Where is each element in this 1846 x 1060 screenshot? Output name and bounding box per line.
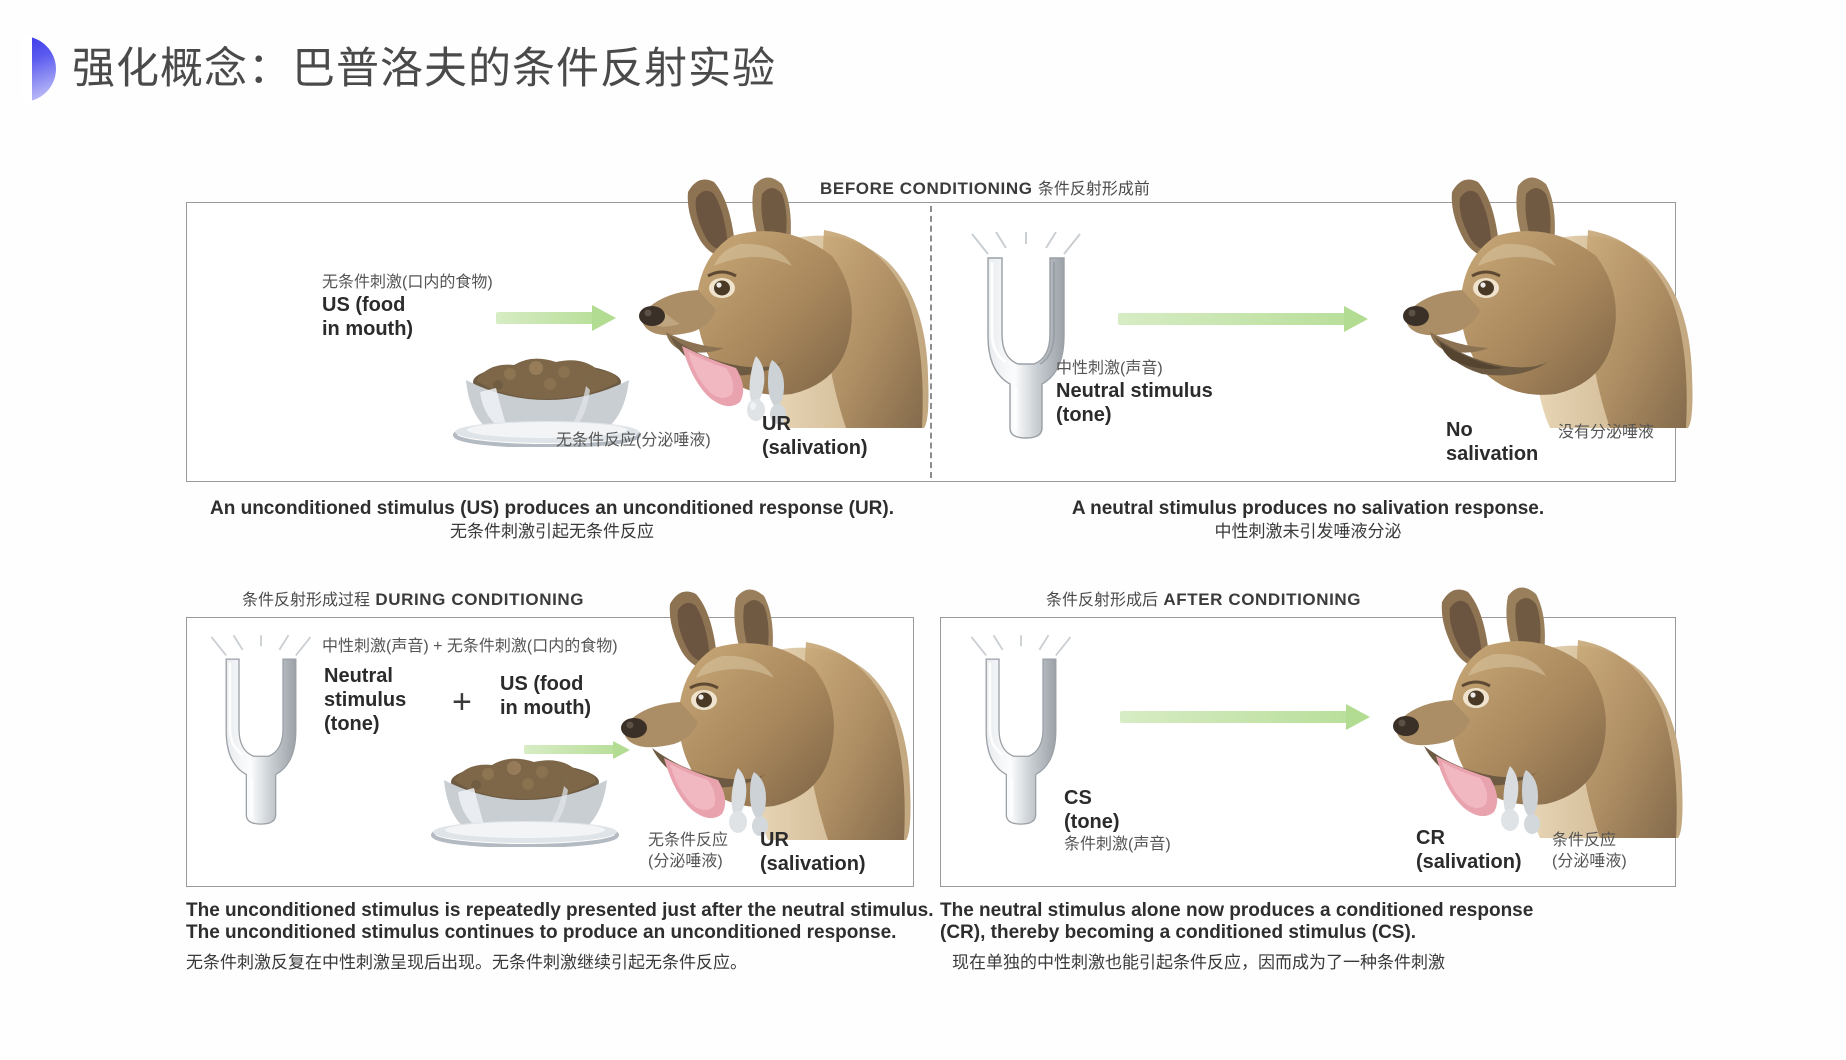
label-ur-response-cn-text: 无条件反应(分泌唾液)	[556, 430, 711, 451]
label-ur-response-cn: 无条件反应(分泌唾液)	[556, 430, 711, 451]
arrow-head	[1344, 306, 1368, 332]
label-after-cs-2: (tone)	[1064, 810, 1171, 834]
label-neutral-stimulus-en-1: Neutral stimulus	[1056, 379, 1213, 403]
label-during-ur-en-1: UR	[760, 828, 866, 852]
caption-during-en-2: The unconditioned stimulus continues to …	[186, 922, 933, 944]
arrow-shaft	[1118, 313, 1346, 325]
label-during-combined-stimulus-cn-text: 中性刺激(声音) + 无条件刺激(口内的食物)	[322, 636, 618, 657]
page-title: 强化概念：巴普洛夫的条件反射实验	[72, 38, 776, 100]
food-bowl-during	[418, 752, 633, 847]
label-during-ur-cn: 无条件反应 (分泌唾液)	[648, 830, 728, 872]
section-heading-after-en: AFTER CONDITIONING	[1163, 590, 1361, 609]
label-during-ur-cn-1: 无条件反应	[648, 830, 728, 851]
label-neutral-stimulus-cn: 中性刺激(声音)	[1056, 358, 1213, 379]
section-heading-during-cn: 条件反射形成过程	[242, 592, 370, 609]
section-heading-after: 条件反射形成后 AFTER CONDITIONING	[1046, 586, 1361, 610]
caption-before-left: An unconditioned stimulus (US) produces …	[196, 497, 908, 543]
label-during-ur-en-2: (salivation)	[760, 852, 866, 876]
section-heading-after-cn: 条件反射形成后	[1046, 592, 1158, 609]
label-after-cs-cn: 条件刺激(声音)	[1064, 834, 1171, 855]
arrow-shaft	[1120, 711, 1348, 723]
slide-root: 强化概念：巴普洛夫的条件反射实验 BEFORE CONDITIONING 条件反…	[0, 0, 1846, 1060]
arrow-head	[592, 305, 616, 331]
label-during-us: US (food in mouth)	[500, 672, 591, 720]
label-during-us-1: US (food	[500, 672, 591, 696]
label-during-neutral-1: Neutral	[324, 664, 406, 688]
tuning-fork-during	[206, 634, 316, 829]
label-after-cr-cn: 条件反应 (分泌唾液)	[1552, 830, 1627, 872]
label-after-cr-en: CR (salivation)	[1416, 826, 1522, 874]
label-us-stimulus: 无条件刺激(口内的食物) US (food in mouth)	[322, 272, 493, 341]
caption-during-cn: 无条件刺激反复在中性刺激呈现后出现。无条件刺激继续引起无条件反应。	[186, 944, 933, 974]
label-no-salivation-cn-text: 没有分泌唾液	[1558, 422, 1654, 443]
label-during-neutral-2: stimulus	[324, 688, 406, 712]
label-neutral-stimulus-before: 中性刺激(声音) Neutral stimulus (tone)	[1056, 358, 1213, 427]
label-during-ur-en: UR (salivation)	[760, 828, 866, 876]
dog-illustration-during	[618, 572, 918, 852]
label-ur-response-en: UR (salivation)	[762, 412, 868, 460]
label-after-cr-en-1: CR	[1416, 826, 1522, 850]
label-during-neutral-stimulus: Neutral stimulus (tone)	[324, 664, 406, 736]
label-during-us-2: in mouth)	[500, 696, 591, 720]
caption-before-right-cn: 中性刺激未引发唾液分泌	[952, 520, 1664, 543]
label-no-salivation-en-1: No	[1446, 418, 1538, 442]
label-no-salivation-en: No salivation	[1446, 418, 1538, 466]
caption-after-en-2: (CR), thereby becoming a conditioned sti…	[940, 922, 1533, 944]
section-heading-during-en: DURING CONDITIONING	[375, 590, 584, 609]
caption-after-cn: 现在单独的中性刺激也能引起条件反应，因而成为了一种条件刺激	[940, 944, 1533, 974]
label-us-stimulus-cn: 无条件刺激(口内的食物)	[322, 272, 493, 293]
arrow-us-to-dog	[496, 307, 616, 329]
label-neutral-stimulus-en-2: (tone)	[1056, 403, 1213, 427]
caption-before-left-cn: 无条件刺激引起无条件反应	[196, 520, 908, 543]
label-us-stimulus-en-1: US (food	[322, 293, 493, 317]
arrow-cs-to-dog-after	[1120, 706, 1370, 728]
caption-after: The neutral stimulus alone now produces …	[940, 900, 1533, 974]
label-us-stimulus-en-2: in mouth)	[322, 317, 493, 341]
label-after-cs-1: CS	[1064, 786, 1171, 810]
caption-during: The unconditioned stimulus is repeatedly…	[186, 900, 933, 974]
caption-before-right: A neutral stimulus produces no salivatio…	[952, 497, 1664, 543]
label-after-cs: CS (tone) 条件刺激(声音)	[1064, 786, 1171, 855]
arrow-tone-to-dog-before	[1118, 308, 1368, 330]
dog-illustration-before-right	[1400, 170, 1700, 430]
label-no-salivation-en-2: salivation	[1446, 442, 1538, 466]
caption-after-en-1: The neutral stimulus alone now produces …	[940, 900, 1533, 922]
label-after-cr-cn-2: (分泌唾液)	[1552, 851, 1627, 872]
label-after-cr-cn-1: 条件反应	[1552, 830, 1627, 851]
label-ur-response-en-1: UR	[762, 412, 868, 436]
arrow-head	[1346, 704, 1370, 730]
caption-before-right-en: A neutral stimulus produces no salivatio…	[952, 497, 1664, 520]
label-after-cr-en-2: (salivation)	[1416, 850, 1522, 874]
plus-sign: +	[452, 683, 472, 722]
dog-illustration-before-left	[636, 170, 936, 430]
arrow-shaft	[496, 312, 594, 324]
caption-before-left-en: An unconditioned stimulus (US) produces …	[196, 497, 908, 520]
label-during-ur-cn-2: (分泌唾液)	[648, 851, 728, 872]
label-ur-response-en-2: (salivation)	[762, 436, 868, 460]
label-during-neutral-3: (tone)	[324, 712, 406, 736]
dog-illustration-after	[1390, 570, 1690, 850]
label-during-combined-stimulus-cn: 中性刺激(声音) + 无条件刺激(口内的食物)	[322, 636, 618, 657]
title-accent-shape	[22, 36, 56, 102]
tuning-fork-after	[966, 634, 1076, 829]
label-no-salivation-cn: 没有分泌唾液	[1558, 422, 1654, 443]
caption-during-en-1: The unconditioned stimulus is repeatedly…	[186, 900, 933, 922]
section-heading-during: 条件反射形成过程 DURING CONDITIONING	[242, 586, 584, 610]
section-heading-before-cn: 条件反射形成前	[1038, 181, 1150, 198]
